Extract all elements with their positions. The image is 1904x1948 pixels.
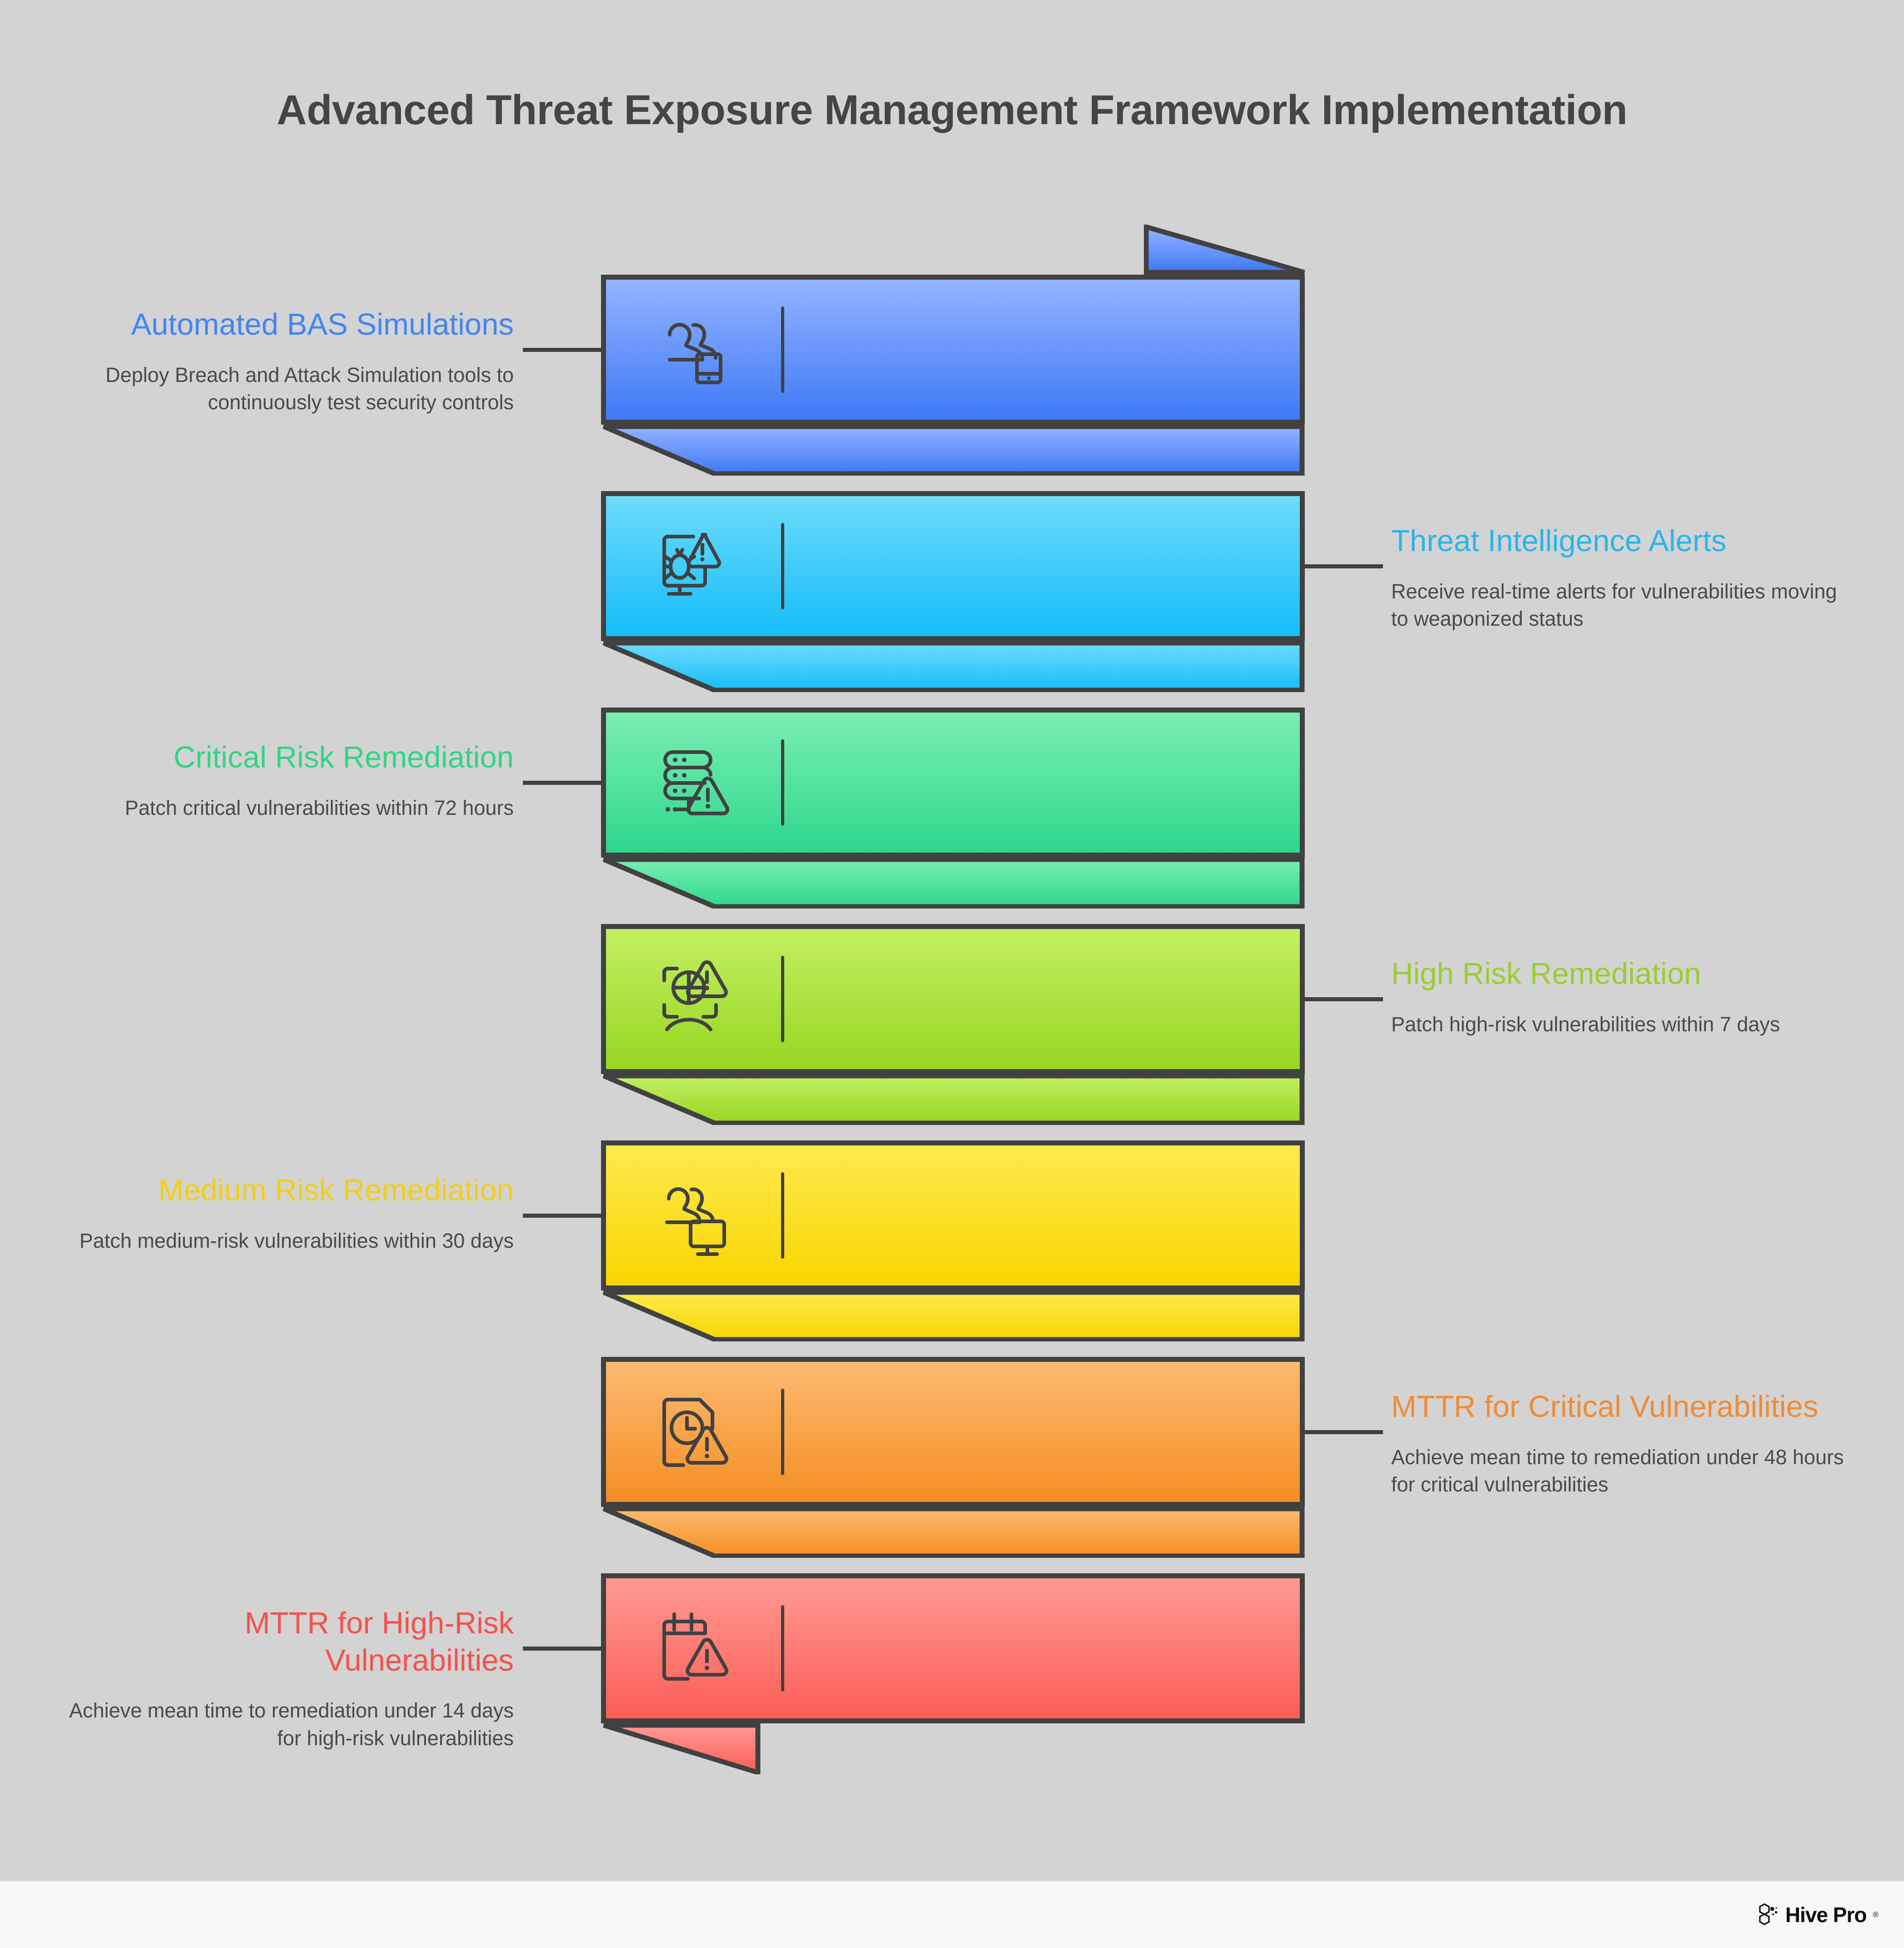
step-title-2: Threat Intelligence Alerts — [1391, 522, 1855, 560]
step-description-1: Deploy Breach and Attack Simulation tool… — [50, 361, 514, 417]
scan-globe-warning-icon — [647, 956, 742, 1042]
hive-hexagon-logo-icon — [1756, 1903, 1781, 1927]
users-monitor-icon — [647, 1172, 742, 1259]
connector-line-step-1 — [523, 348, 605, 352]
band-divider — [781, 523, 784, 609]
step-description-5: Patch medium-risk vulnerabilities within… — [50, 1227, 514, 1255]
ribbon-fold-strip — [601, 1074, 1305, 1125]
users-laptop-icon — [647, 306, 742, 393]
ribbon-fold-strip — [601, 1507, 1305, 1558]
document-clock-warning-icon — [647, 1389, 742, 1475]
ribbon-stack — [0, 0, 1904, 1851]
step-description-6: Achieve mean time to remediation under 4… — [1391, 1444, 1855, 1499]
ribbon-band-step-2[interactable] — [601, 491, 1305, 641]
step-title-4: High Risk Remediation — [1391, 955, 1855, 993]
connector-line-step-4 — [1301, 997, 1383, 1001]
step-label-block-7: MTTR for High-Risk VulnerabilitiesAchiev… — [50, 1605, 514, 1752]
step-label-block-4: High Risk RemediationPatch high-risk vul… — [1391, 955, 1855, 1038]
ribbon-fold-strip — [601, 425, 1305, 476]
step-description-2: Receive real-time alerts for vulnerabili… — [1391, 578, 1855, 633]
hive-pro-logo: Hive Pro ® — [1756, 1903, 1879, 1927]
step-description-7: Achieve mean time to remediation under 1… — [50, 1697, 514, 1752]
band-divider — [781, 956, 784, 1042]
connector-line-step-6 — [1301, 1430, 1383, 1434]
band-divider — [781, 306, 784, 393]
step-title-3: Critical Risk Remediation — [50, 739, 514, 776]
step-label-block-3: Critical Risk RemediationPatch critical … — [50, 739, 514, 822]
step-label-block-5: Medium Risk RemediationPatch medium-risk… — [50, 1172, 514, 1255]
step-title-6: MTTR for Critical Vulnerabilities — [1391, 1388, 1855, 1426]
connector-line-step-3 — [523, 781, 605, 785]
step-description-3: Patch critical vulnerabilities within 72… — [50, 794, 514, 822]
connector-line-step-2 — [1301, 564, 1383, 568]
page-footer: Hive Pro ® — [0, 1881, 1904, 1948]
monitor-bug-warning-icon — [647, 523, 742, 609]
ribbon-fold-strip — [601, 641, 1305, 692]
connector-line-step-7 — [523, 1647, 605, 1651]
ribbon-band-step-5[interactable] — [601, 1140, 1305, 1290]
connector-line-step-5 — [523, 1214, 605, 1218]
server-stack-warning-icon — [647, 739, 742, 826]
ribbon-fold-strip — [601, 1290, 1305, 1341]
ribbon-band-step-1[interactable] — [601, 275, 1305, 425]
infographic-canvas: Advanced Threat Exposure Management Fram… — [0, 0, 1904, 1948]
ribbon-band-step-3[interactable] — [601, 708, 1305, 858]
step-title-1: Automated BAS Simulations — [50, 306, 514, 343]
band-divider — [781, 1172, 784, 1259]
ribbon-band-step-4[interactable] — [601, 924, 1305, 1074]
ribbon-end-tail — [601, 1723, 1305, 1774]
ribbon-fold-strip — [601, 858, 1305, 909]
step-title-7: MTTR for High-Risk Vulnerabilities — [50, 1605, 514, 1679]
band-divider — [781, 1389, 784, 1475]
step-description-4: Patch high-risk vulnerabilities within 7… — [1391, 1011, 1855, 1038]
band-divider — [781, 739, 784, 826]
ribbon-band-step-6[interactable] — [601, 1357, 1305, 1507]
step-label-block-6: MTTR for Critical VulnerabilitiesAchieve… — [1391, 1388, 1855, 1498]
step-label-block-1: Automated BAS SimulationsDeploy Breach a… — [50, 306, 514, 416]
logo-wordmark: Hive Pro — [1785, 1903, 1867, 1927]
logo-registered-mark: ® — [1873, 1910, 1879, 1919]
ribbon-band-step-7[interactable] — [601, 1573, 1305, 1723]
calendar-warning-icon — [647, 1605, 742, 1692]
band-divider — [781, 1605, 784, 1692]
step-label-block-2: Threat Intelligence AlertsReceive real-t… — [1391, 522, 1855, 633]
step-title-5: Medium Risk Remediation — [50, 1172, 514, 1209]
